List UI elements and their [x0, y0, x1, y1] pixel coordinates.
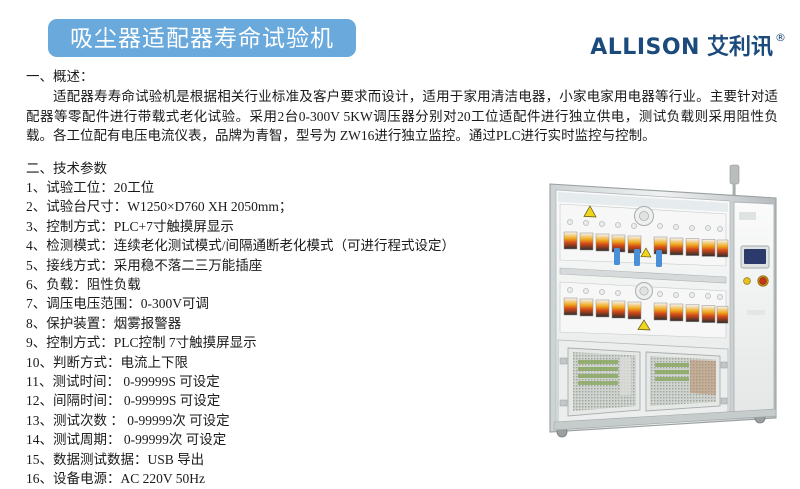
- load-bank-resistor: [578, 381, 618, 385]
- load-bank-resistor: [655, 370, 689, 374]
- list-item: 12、间隔时间： 0-99999S 可设定: [26, 391, 496, 410]
- mesh-door-left[interactable]: [568, 348, 640, 416]
- list-item: 3、控制方式：PLC+7寸触摸屏显示: [26, 217, 496, 236]
- hmi-touchscreen[interactable]: [741, 246, 769, 268]
- emergency-stop-button[interactable]: [760, 278, 767, 285]
- list-item: 5、接线方式：采用稳不落二三万能插座: [26, 256, 496, 275]
- panel-label: [747, 310, 765, 315]
- list-item: 15、数据测试数据：USB 导出: [26, 450, 496, 469]
- brand-logo: ALLISON 艾利讯 ®: [590, 33, 786, 65]
- overview-heading: 一、概述：: [26, 67, 778, 86]
- list-item: 14、测试周期： 0-99999次 可设定: [26, 430, 496, 449]
- list-item: 13、测试次数 ： 0-99999次 可设定: [26, 411, 496, 430]
- list-item: 7、调压电压范围：0-300V可调: [26, 294, 496, 313]
- control-panel: [734, 202, 774, 416]
- upper-station-row: [560, 204, 728, 267]
- lower-station-row: [560, 282, 728, 338]
- brand-logo-english: ALLISON: [590, 33, 700, 63]
- list-item: 11、测试时间： 0-99999S 可设定: [26, 372, 496, 391]
- parameters-list: 1、试验工位：20工位 2、试验台尺寸：W1250×D760 XH 2050mm…: [26, 178, 496, 489]
- page-title: 吸尘器适配器寿命试验机: [70, 27, 334, 50]
- list-item: 9、控制方式：PLC控制 7寸触摸屏显示: [26, 333, 496, 352]
- indicator-lamp: [744, 278, 751, 285]
- page-title-banner: 吸尘器适配器寿命试验机: [48, 19, 356, 57]
- list-item: 2、试验台尺寸：W1250×D760 XH 2050mm；: [26, 197, 496, 216]
- mesh-door-right[interactable]: [646, 352, 720, 411]
- test-cabinet-illustration: [498, 160, 798, 450]
- list-item: 16、设备电源：AC 220V 50Hz: [26, 469, 496, 488]
- brand-logo-chinese: 艾利讯: [707, 33, 773, 63]
- list-item: 10、判断方式：电流上下限: [26, 353, 496, 372]
- load-bank-resistor: [578, 360, 618, 364]
- list-item: 8、保护装置：烟雾报警器: [26, 314, 496, 333]
- machine-photo: [498, 160, 798, 450]
- load-bank-resistor: [655, 363, 689, 367]
- load-bank-resistor: [578, 367, 618, 371]
- list-item: 1、试验工位：20工位: [26, 178, 496, 197]
- load-bank-resistor: [655, 377, 689, 381]
- brand-plate: [739, 212, 756, 220]
- overview-paragraph: 适配器寿寿命试验机是根据相关行业标准及客户要求而设计，适用于家用清洁电器，小家电…: [26, 87, 778, 146]
- list-item: 6、负载：阻性负载: [26, 275, 496, 294]
- load-bank-resistor: [578, 374, 618, 378]
- list-item: 4、检测模式：连续老化测试模式/间隔通断老化模式（可进行程式设定）: [26, 236, 496, 255]
- registered-trademark-icon: ®: [775, 32, 786, 44]
